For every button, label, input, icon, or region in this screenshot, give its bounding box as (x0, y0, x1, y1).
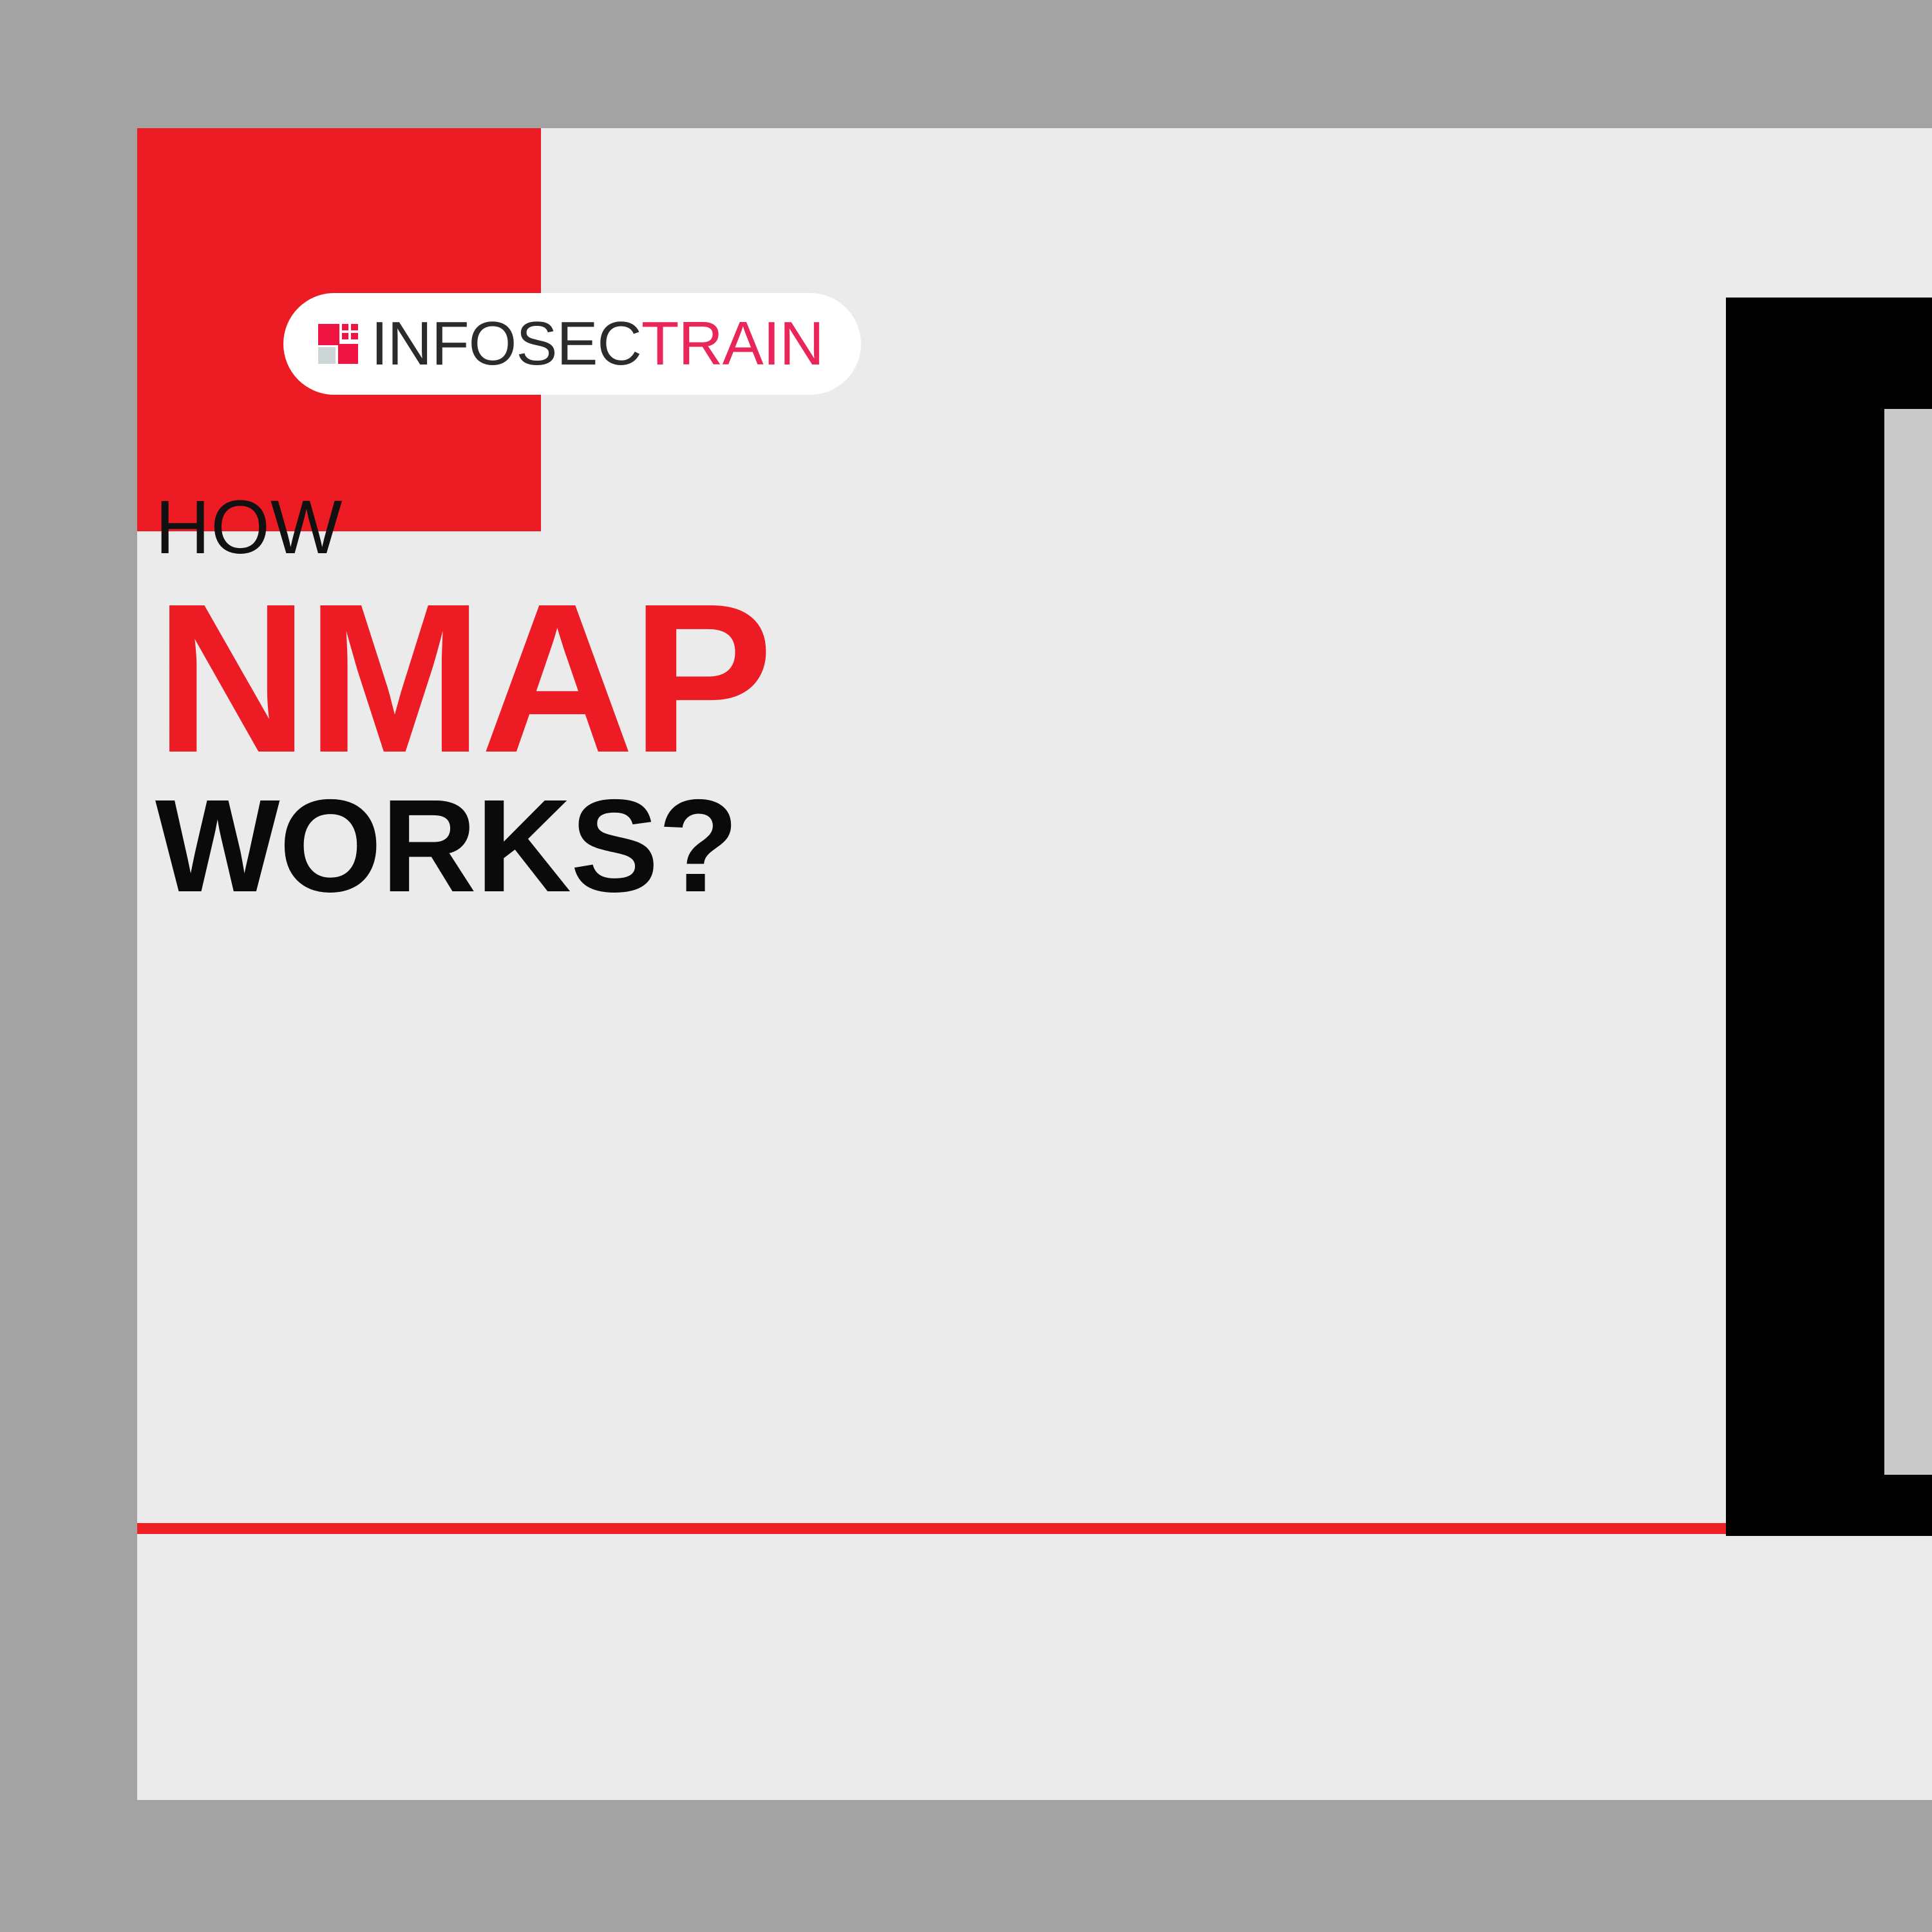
mark-tile-top-left (318, 324, 339, 345)
mark-tile-bottom-left (318, 347, 336, 364)
mark-tile-small-2 (351, 324, 358, 330)
brand-wordmark: INFOSECTRAIN (371, 313, 824, 375)
mark-tile-small-1 (342, 324, 348, 330)
brand-wordmark-accent: TRAIN (641, 309, 824, 378)
infosectrain-mark-icon (318, 324, 358, 364)
slide-card: INFOSECTRAIN HOW NMAP WORKS? (137, 128, 1932, 1800)
mark-tile-bottom-right (338, 344, 358, 364)
frame-inner-surface (1884, 409, 1932, 1475)
mark-tile-small-3 (342, 333, 348, 339)
brand-wordmark-primary: INFOSEC (371, 309, 641, 378)
black-frame-panel (1726, 298, 1932, 1536)
slide-stage: INFOSECTRAIN HOW NMAP WORKS? (0, 0, 1932, 1932)
headline-line-works: WORKS? (155, 780, 1250, 912)
brand-logo-badge[interactable]: INFOSECTRAIN (283, 293, 861, 395)
headline-line-nmap: NMAP (155, 580, 1250, 776)
headline-line-how: HOW (155, 489, 1250, 566)
red-divider-rule (137, 1523, 1932, 1534)
headline-block: HOW NMAP WORKS? (155, 489, 1250, 912)
mark-tile-small-4 (351, 333, 358, 339)
